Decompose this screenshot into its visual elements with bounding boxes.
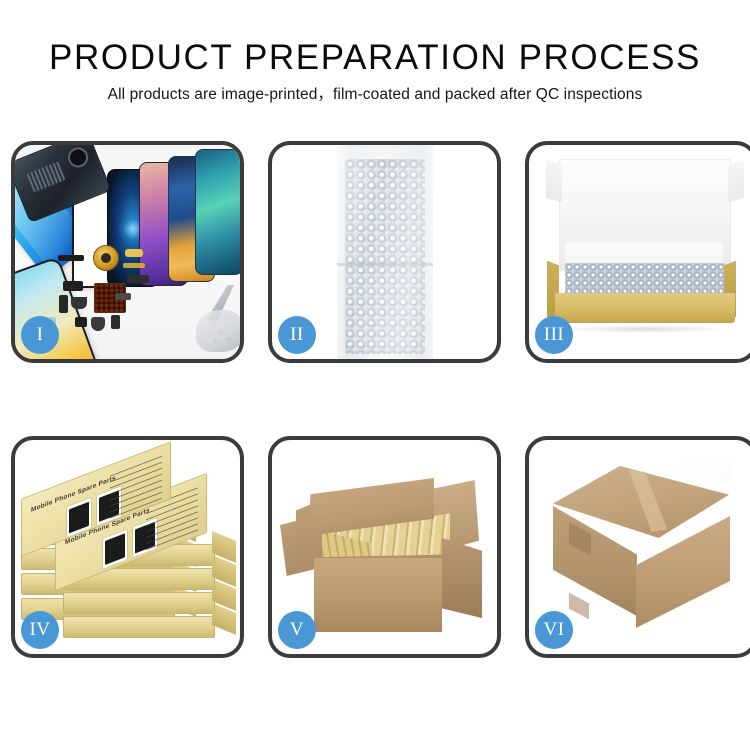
product-preparation-infographic: PRODUCT PREPARATION PROCESS All products…: [0, 0, 750, 750]
kraft-box-front-icon: [555, 293, 735, 323]
step-badge-5: V: [278, 611, 316, 649]
step-badge-3: III: [535, 316, 573, 354]
small-chip-part-icon: [75, 317, 87, 327]
step-badge-6: VI: [535, 611, 573, 649]
hand-icon: [196, 310, 240, 352]
teal-gradient-phone-icon: [195, 149, 240, 275]
step-panel-1[interactable]: I: [11, 141, 244, 363]
carton-highlight: [669, 456, 735, 486]
wrap-sheen: [337, 145, 433, 359]
button-part-icon: [59, 295, 68, 313]
ribbon-cable-part-icon: [127, 275, 149, 283]
box-shadow: [559, 325, 731, 333]
carton-side-face: [442, 538, 482, 618]
stacked-box-edge: [63, 592, 215, 614]
inner-bubble-wrap-icon: [565, 263, 725, 297]
vibrator-part-icon: [91, 317, 105, 331]
stacked-box-edge: [63, 616, 215, 638]
step-panel-3[interactable]: III: [525, 141, 750, 363]
carton-front-face: [314, 558, 442, 632]
box-artwork-phone-icon: [102, 528, 128, 570]
gold-flex-part-icon: [123, 263, 145, 268]
bracket-part-icon: [115, 293, 131, 300]
gold-connector-part-icon: [125, 249, 143, 257]
step-badge-2: II: [278, 316, 316, 354]
page-subtitle: All products are image-printed，film-coat…: [0, 85, 750, 105]
steps-grid: I II III: [11, 141, 739, 686]
camera-module-part-icon: [63, 281, 83, 291]
sim-tray-part-icon: [111, 315, 120, 329]
speaker-part-icon: [71, 297, 87, 309]
step-panel-5[interactable]: V: [268, 436, 501, 658]
step-panel-2[interactable]: II: [268, 141, 501, 363]
step-panel-4[interactable]: Mobile Phone Spare Parts Mobile Phone Sp…: [11, 436, 244, 658]
step-badge-1: I: [21, 316, 59, 354]
step-panel-6[interactable]: VI: [525, 436, 750, 658]
page-title: PRODUCT PREPARATION PROCESS: [0, 40, 750, 75]
flex-cable-part-icon: [58, 255, 84, 261]
step-badge-4: IV: [21, 611, 59, 649]
carton-seam-mark: [569, 593, 589, 620]
speaker-coil-icon: [93, 245, 119, 271]
